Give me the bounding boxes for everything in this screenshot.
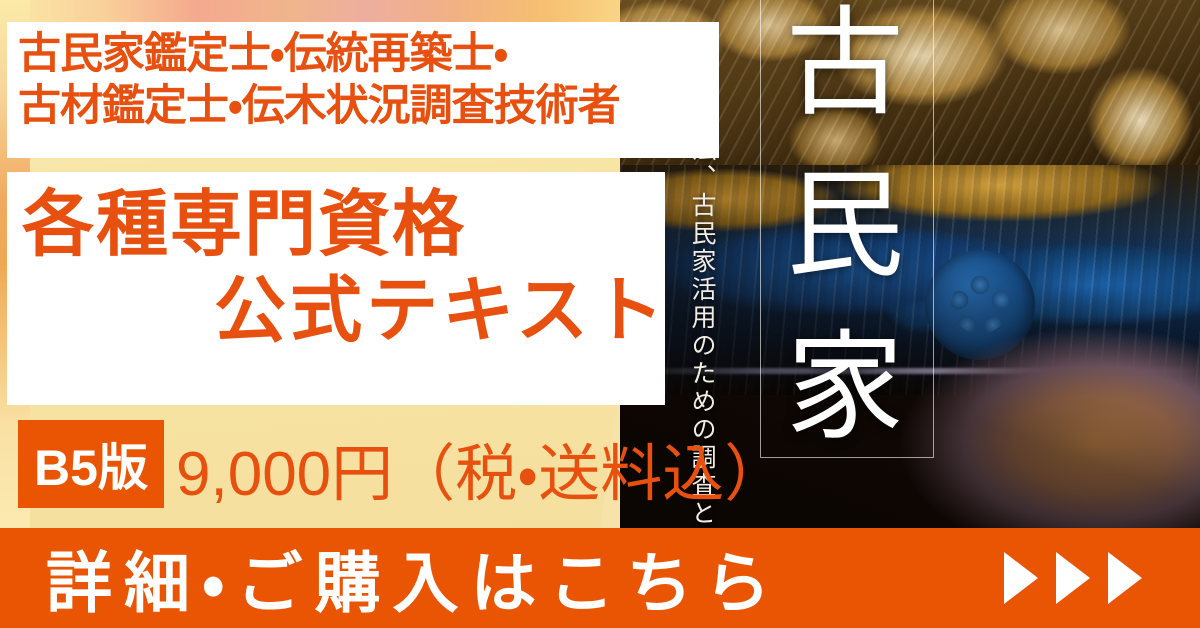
price-text: 9,000円（税・送料込） (176, 423, 786, 513)
headline-line-1: 各種専門資格 (22, 185, 466, 265)
triangle-right-icon (1056, 552, 1090, 604)
cover-title-char-3: 家 (786, 330, 904, 446)
qualification-kicker: 古民家鑑定士・伝統再築士・ 古材鑑定士・伝木状況調査技術者 (18, 28, 718, 133)
format-badge: B5版 (18, 420, 164, 508)
cta-arrow-group (1004, 552, 1142, 604)
cover-title-char-2: 民 (786, 168, 904, 284)
cover-title-vertical: 古 民 家 (770, 6, 920, 446)
kicker-line-2: 古材鑑定士・伝木状況調査技術者 (18, 80, 718, 132)
headline-line-2: 公式テキスト (22, 268, 672, 354)
cta-bar[interactable]: 詳細・ご購入はこちら (0, 528, 1200, 628)
main-headline: 各種専門資格 公式テキスト (22, 182, 672, 355)
cta-label[interactable]: 詳細・ご購入はこちら (46, 530, 782, 626)
cover-title-char-1: 古 (786, 6, 904, 122)
triangle-right-icon (1004, 552, 1038, 604)
promo-banner: 古 民 家 伝統構法、古民家活用のための調査と再生の 古民家鑑定士・伝統再築士・… (0, 0, 1200, 628)
triangle-right-icon (1108, 552, 1142, 604)
kicker-line-1: 古民家鑑定士・伝統再築士・ (18, 28, 718, 80)
